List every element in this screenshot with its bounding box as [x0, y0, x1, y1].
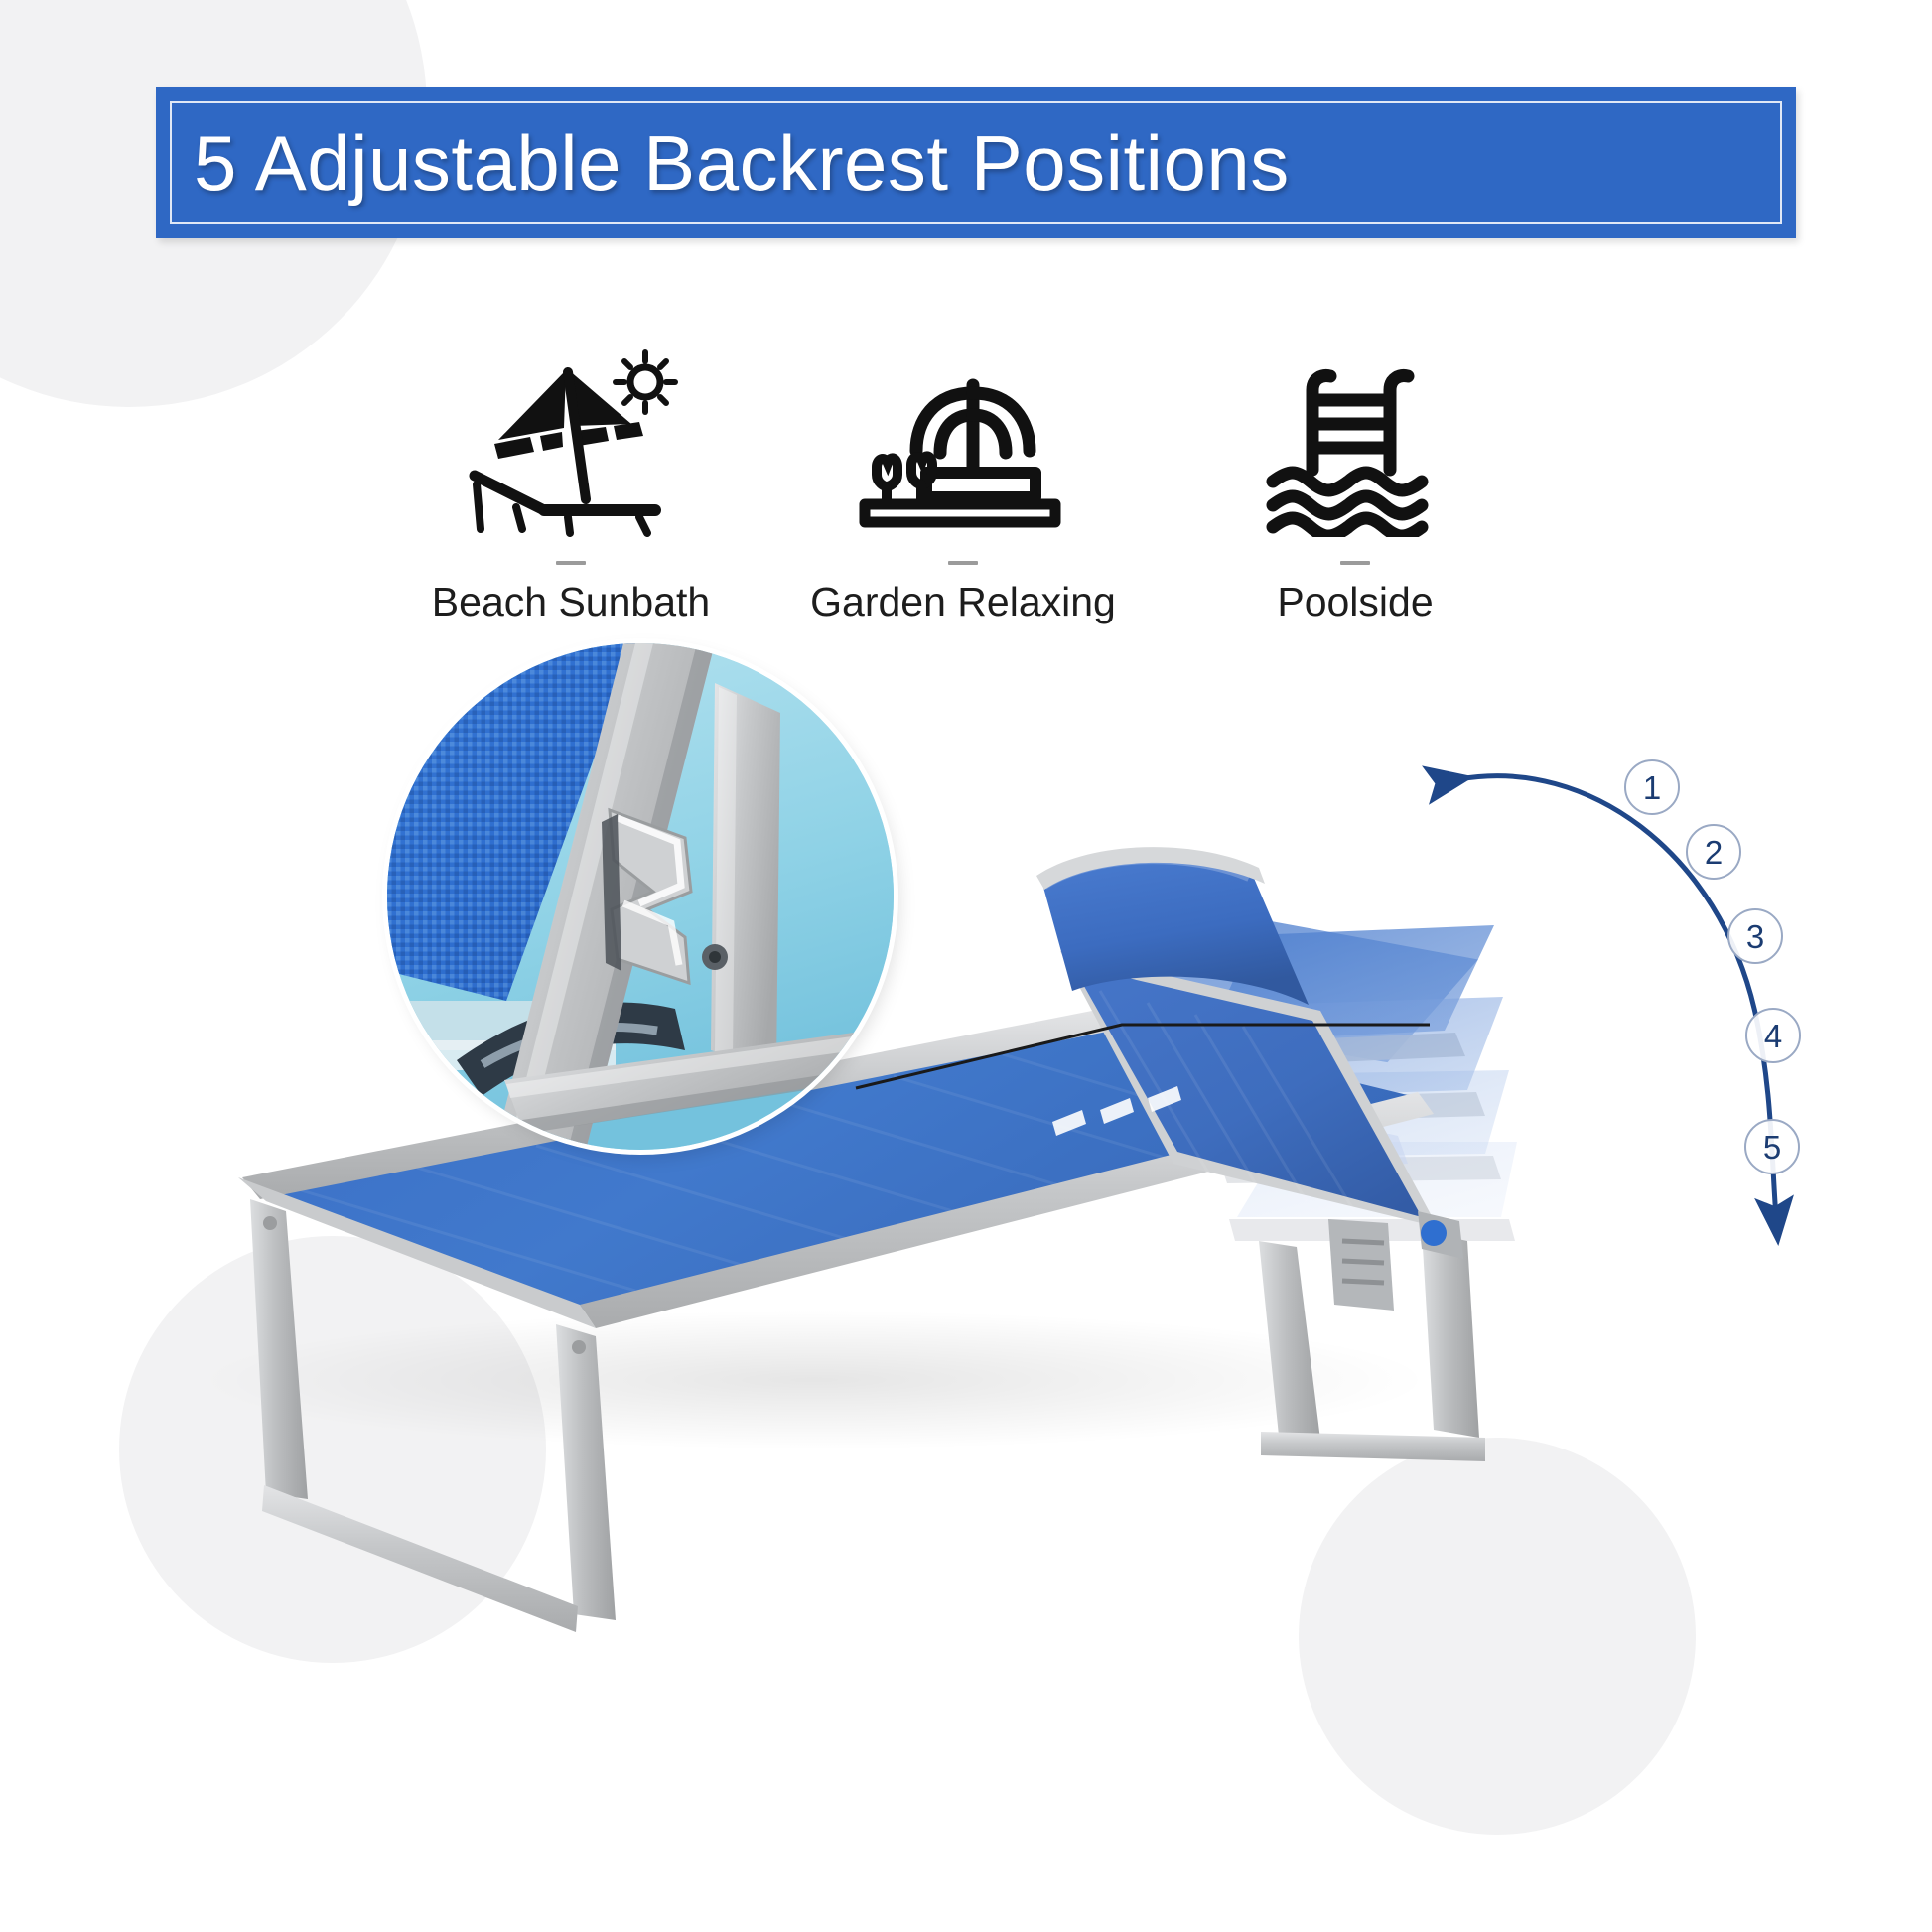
header-banner: 5 Adjustable Backrest Positions — [156, 87, 1796, 238]
page-title: 5 Adjustable Backrest Positions — [172, 124, 1290, 202]
position-marker-2: 2 — [1686, 824, 1741, 880]
position-marker-1: 1 — [1624, 759, 1680, 815]
backrest-position-indicator: 1 2 3 4 5 — [1390, 735, 1857, 1291]
infographic-canvas: 5 Adjustable Backrest Positions — [0, 0, 1932, 1932]
header-banner-inner-border: 5 Adjustable Backrest Positions — [170, 101, 1782, 224]
rear-foot-bar — [1261, 1432, 1485, 1461]
backrest-hinge-detail-zoom — [387, 643, 894, 1150]
feature-divider-dash — [1340, 561, 1370, 565]
pool-ladder-waves-icon — [1261, 339, 1449, 537]
front-foot-crossbar — [262, 1485, 578, 1632]
feature-beach-sunbath: Beach Sunbath — [397, 339, 745, 625]
use-case-feature-row: Beach Sunbath — [397, 298, 1529, 625]
position-marker-4: 4 — [1745, 1008, 1801, 1063]
feature-poolside: Poolside — [1181, 339, 1529, 625]
garden-fountain-flowers-icon — [857, 339, 1070, 537]
feature-divider-dash — [556, 561, 586, 565]
beach-umbrella-sun-icon — [457, 339, 685, 537]
position-marker-5: 5 — [1744, 1119, 1800, 1174]
position-marker-3: 3 — [1727, 908, 1783, 964]
feature-garden-relaxing: Garden Relaxing — [789, 339, 1137, 625]
feature-divider-dash — [948, 561, 978, 565]
